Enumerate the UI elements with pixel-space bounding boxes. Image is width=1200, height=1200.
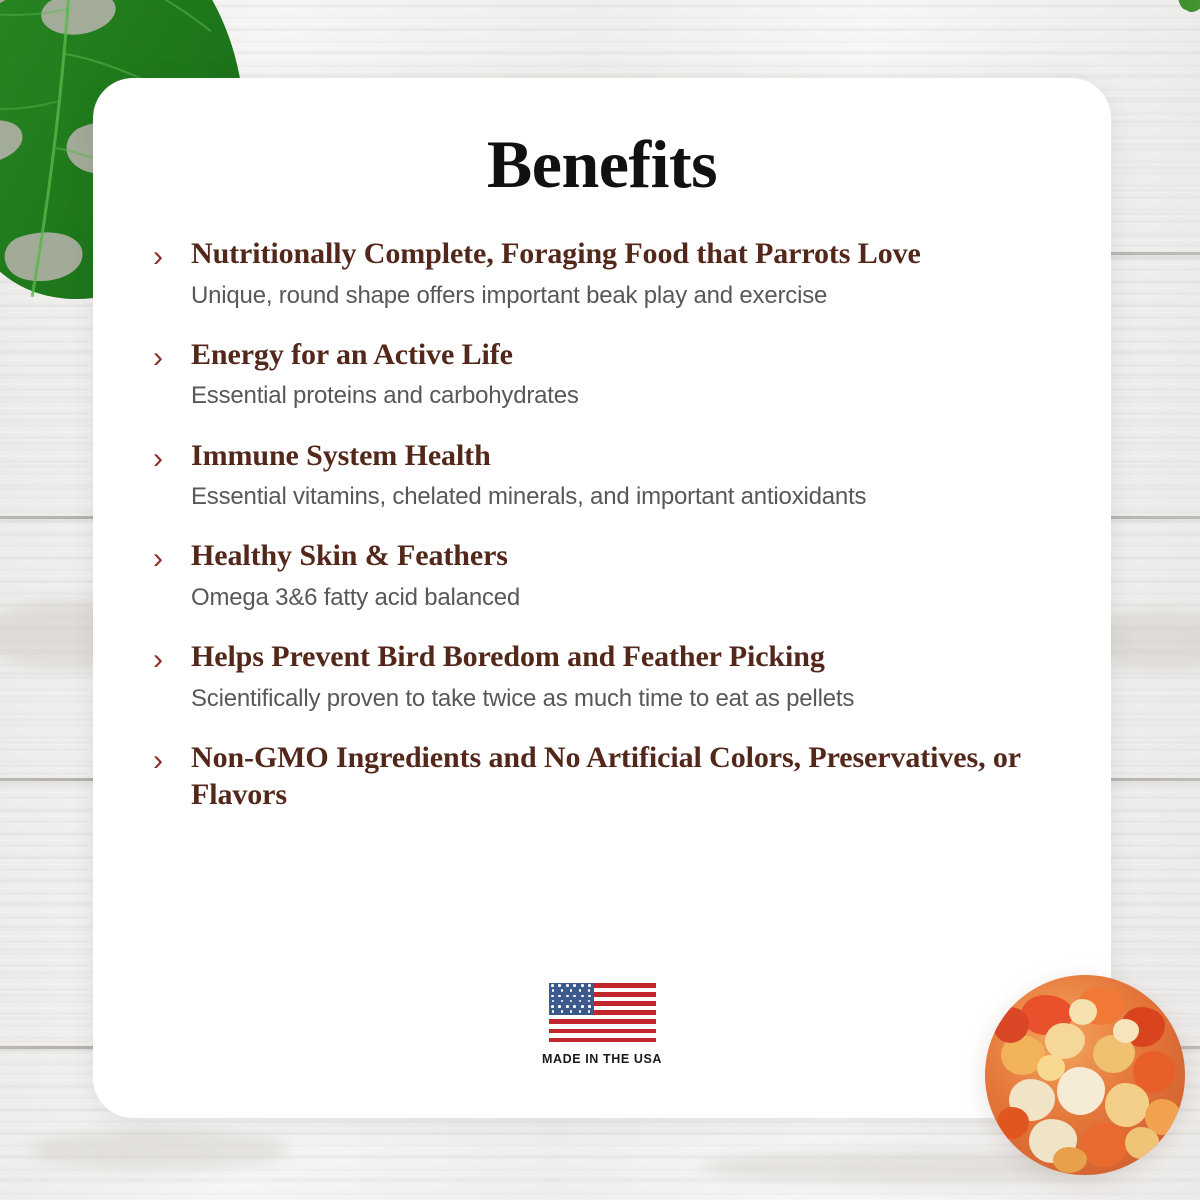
benefit-subtext: Essential vitamins, chelated minerals, a… — [191, 481, 1055, 512]
benefit-subtext: Unique, round shape offers important bea… — [191, 280, 1055, 311]
benefit-heading: Non-GMO Ingredients and No Artificial Co… — [191, 740, 1055, 813]
list-item: › Non-GMO Ingredients and No Artificial … — [153, 740, 1055, 813]
list-item: › Helps Prevent Bird Boredom and Feather… — [153, 639, 1055, 714]
benefit-heading: Nutritionally Complete, Foraging Food th… — [191, 236, 1055, 273]
chevron-right-icon: › — [153, 236, 191, 274]
made-in-usa-badge: MADE IN THE USA — [93, 983, 1111, 1066]
benefit-heading: Healthy Skin & Feathers — [191, 538, 1055, 575]
benefits-list: › Nutritionally Complete, Foraging Food … — [149, 236, 1055, 813]
list-item: › Immune System Health Essential vitamin… — [153, 438, 1055, 513]
list-item: › Healthy Skin & Feathers Omega 3&6 fatt… — [153, 538, 1055, 613]
benefit-subtext: Scientifically proven to take twice as m… — [191, 683, 1055, 714]
benefit-subtext: Omega 3&6 fatty acid balanced — [191, 582, 1055, 613]
flag-canton — [549, 983, 594, 1015]
list-item: › Nutritionally Complete, Foraging Food … — [153, 236, 1055, 311]
foraging-food-ball-image — [985, 975, 1185, 1175]
benefit-subtext: Essential proteins and carbohydrates — [191, 380, 1055, 411]
made-in-usa-caption: MADE IN THE USA — [542, 1052, 662, 1066]
usa-flag-icon — [549, 983, 656, 1043]
chevron-right-icon: › — [153, 438, 191, 476]
list-item: › Energy for an Active Life Essential pr… — [153, 337, 1055, 412]
chevron-right-icon: › — [153, 337, 191, 375]
chevron-right-icon: › — [153, 639, 191, 677]
page-title: Benefits — [149, 130, 1055, 198]
chevron-right-icon: › — [153, 740, 191, 778]
benefit-heading: Helps Prevent Bird Boredom and Feather P… — [191, 639, 1055, 676]
wood-grain-blotch — [30, 1130, 290, 1170]
benefit-heading: Immune System Health — [191, 438, 1055, 475]
benefits-card: Benefits › Nutritionally Complete, Forag… — [93, 78, 1111, 1118]
benefit-heading: Energy for an Active Life — [191, 337, 1055, 374]
chevron-right-icon: › — [153, 538, 191, 576]
poster-stage: Benefits › Nutritionally Complete, Forag… — [0, 0, 1200, 1200]
